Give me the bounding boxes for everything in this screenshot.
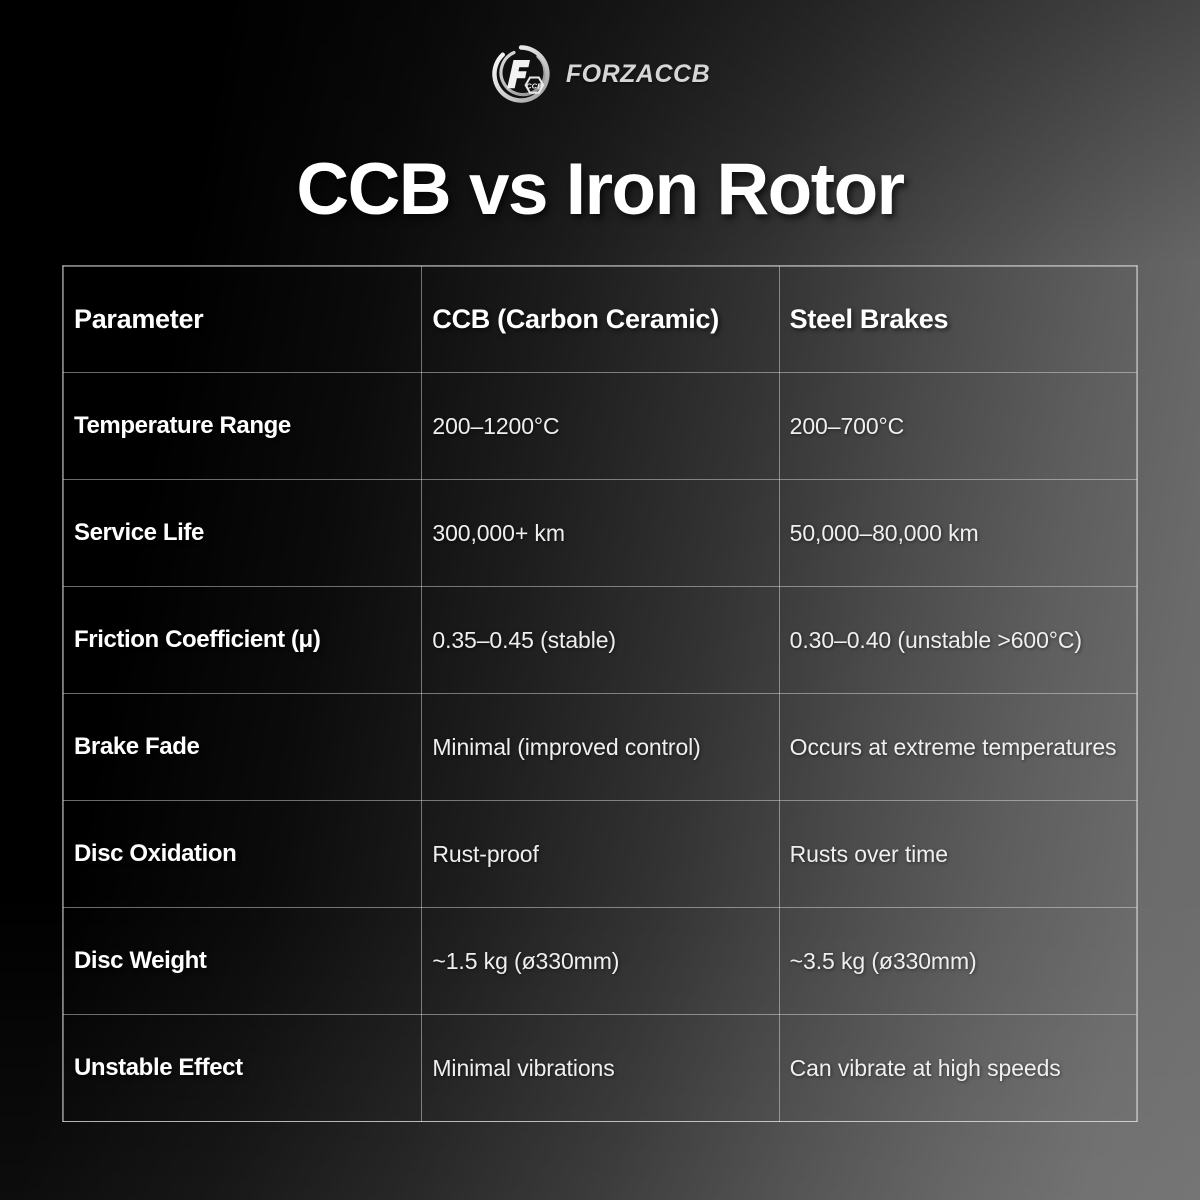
cell-steel-value: ~3.5 kg (ø330mm) <box>779 908 1136 1015</box>
cell-steel-value: Can vibrate at high speeds <box>779 1015 1136 1122</box>
cell-parameter: Service Life <box>64 480 422 587</box>
table-row: Disc Weight ~1.5 kg (ø330mm) ~3.5 kg (ø3… <box>64 908 1137 1015</box>
page-title: CCB vs Iron Rotor <box>0 148 1200 231</box>
column-header-parameter: Parameter <box>64 267 422 373</box>
svg-text:CCB: CCB <box>526 81 543 90</box>
table-row: Disc Oxidation Rust-proof Rusts over tim… <box>64 801 1137 908</box>
table-body: Temperature Range 200–1200°C 200–700°C S… <box>64 373 1137 1122</box>
brand-wordmark: FORZACCB <box>566 60 710 89</box>
cell-steel-value: Rusts over time <box>779 801 1136 908</box>
brand-header: CCB FORZACCB <box>0 40 1200 108</box>
infographic-page: CCB FORZACCB CCB vs Iron Rotor Parameter… <box>0 0 1200 1200</box>
cell-ccb-value: Rust-proof <box>422 801 779 908</box>
cell-ccb-value: 300,000+ km <box>422 480 779 587</box>
cell-parameter: Unstable Effect <box>64 1015 422 1122</box>
table-row: Friction Coefficient (μ) 0.35–0.45 (stab… <box>64 587 1137 694</box>
comparison-table-container: Parameter CCB (Carbon Ceramic) Steel Bra… <box>62 265 1138 1122</box>
comparison-table: Parameter CCB (Carbon Ceramic) Steel Bra… <box>63 266 1137 1122</box>
cell-parameter: Disc Weight <box>64 908 422 1015</box>
table-row: Brake Fade Minimal (improved control) Oc… <box>64 694 1137 801</box>
table-header-row: Parameter CCB (Carbon Ceramic) Steel Bra… <box>64 267 1137 373</box>
cell-steel-value: 50,000–80,000 km <box>779 480 1136 587</box>
table-row: Temperature Range 200–1200°C 200–700°C <box>64 373 1137 480</box>
cell-ccb-value: Minimal (improved control) <box>422 694 779 801</box>
cell-ccb-value: ~1.5 kg (ø330mm) <box>422 908 779 1015</box>
forzaccb-logo-icon: CCB <box>490 43 552 105</box>
cell-parameter: Disc Oxidation <box>64 801 422 908</box>
cell-parameter: Temperature Range <box>64 373 422 480</box>
cell-ccb-value: 200–1200°C <box>422 373 779 480</box>
cell-steel-value: 0.30–0.40 (unstable >600°C) <box>779 587 1136 694</box>
cell-parameter: Brake Fade <box>64 694 422 801</box>
cell-parameter: Friction Coefficient (μ) <box>64 587 422 694</box>
table-row: Service Life 300,000+ km 50,000–80,000 k… <box>64 480 1137 587</box>
cell-steel-value: Occurs at extreme temperatures <box>779 694 1136 801</box>
cell-ccb-value: 0.35–0.45 (stable) <box>422 587 779 694</box>
cell-ccb-value: Minimal vibrations <box>422 1015 779 1122</box>
column-header-ccb: CCB (Carbon Ceramic) <box>422 267 779 373</box>
table-row: Unstable Effect Minimal vibrations Can v… <box>64 1015 1137 1122</box>
cell-steel-value: 200–700°C <box>779 373 1136 480</box>
column-header-steel: Steel Brakes <box>779 267 1136 373</box>
